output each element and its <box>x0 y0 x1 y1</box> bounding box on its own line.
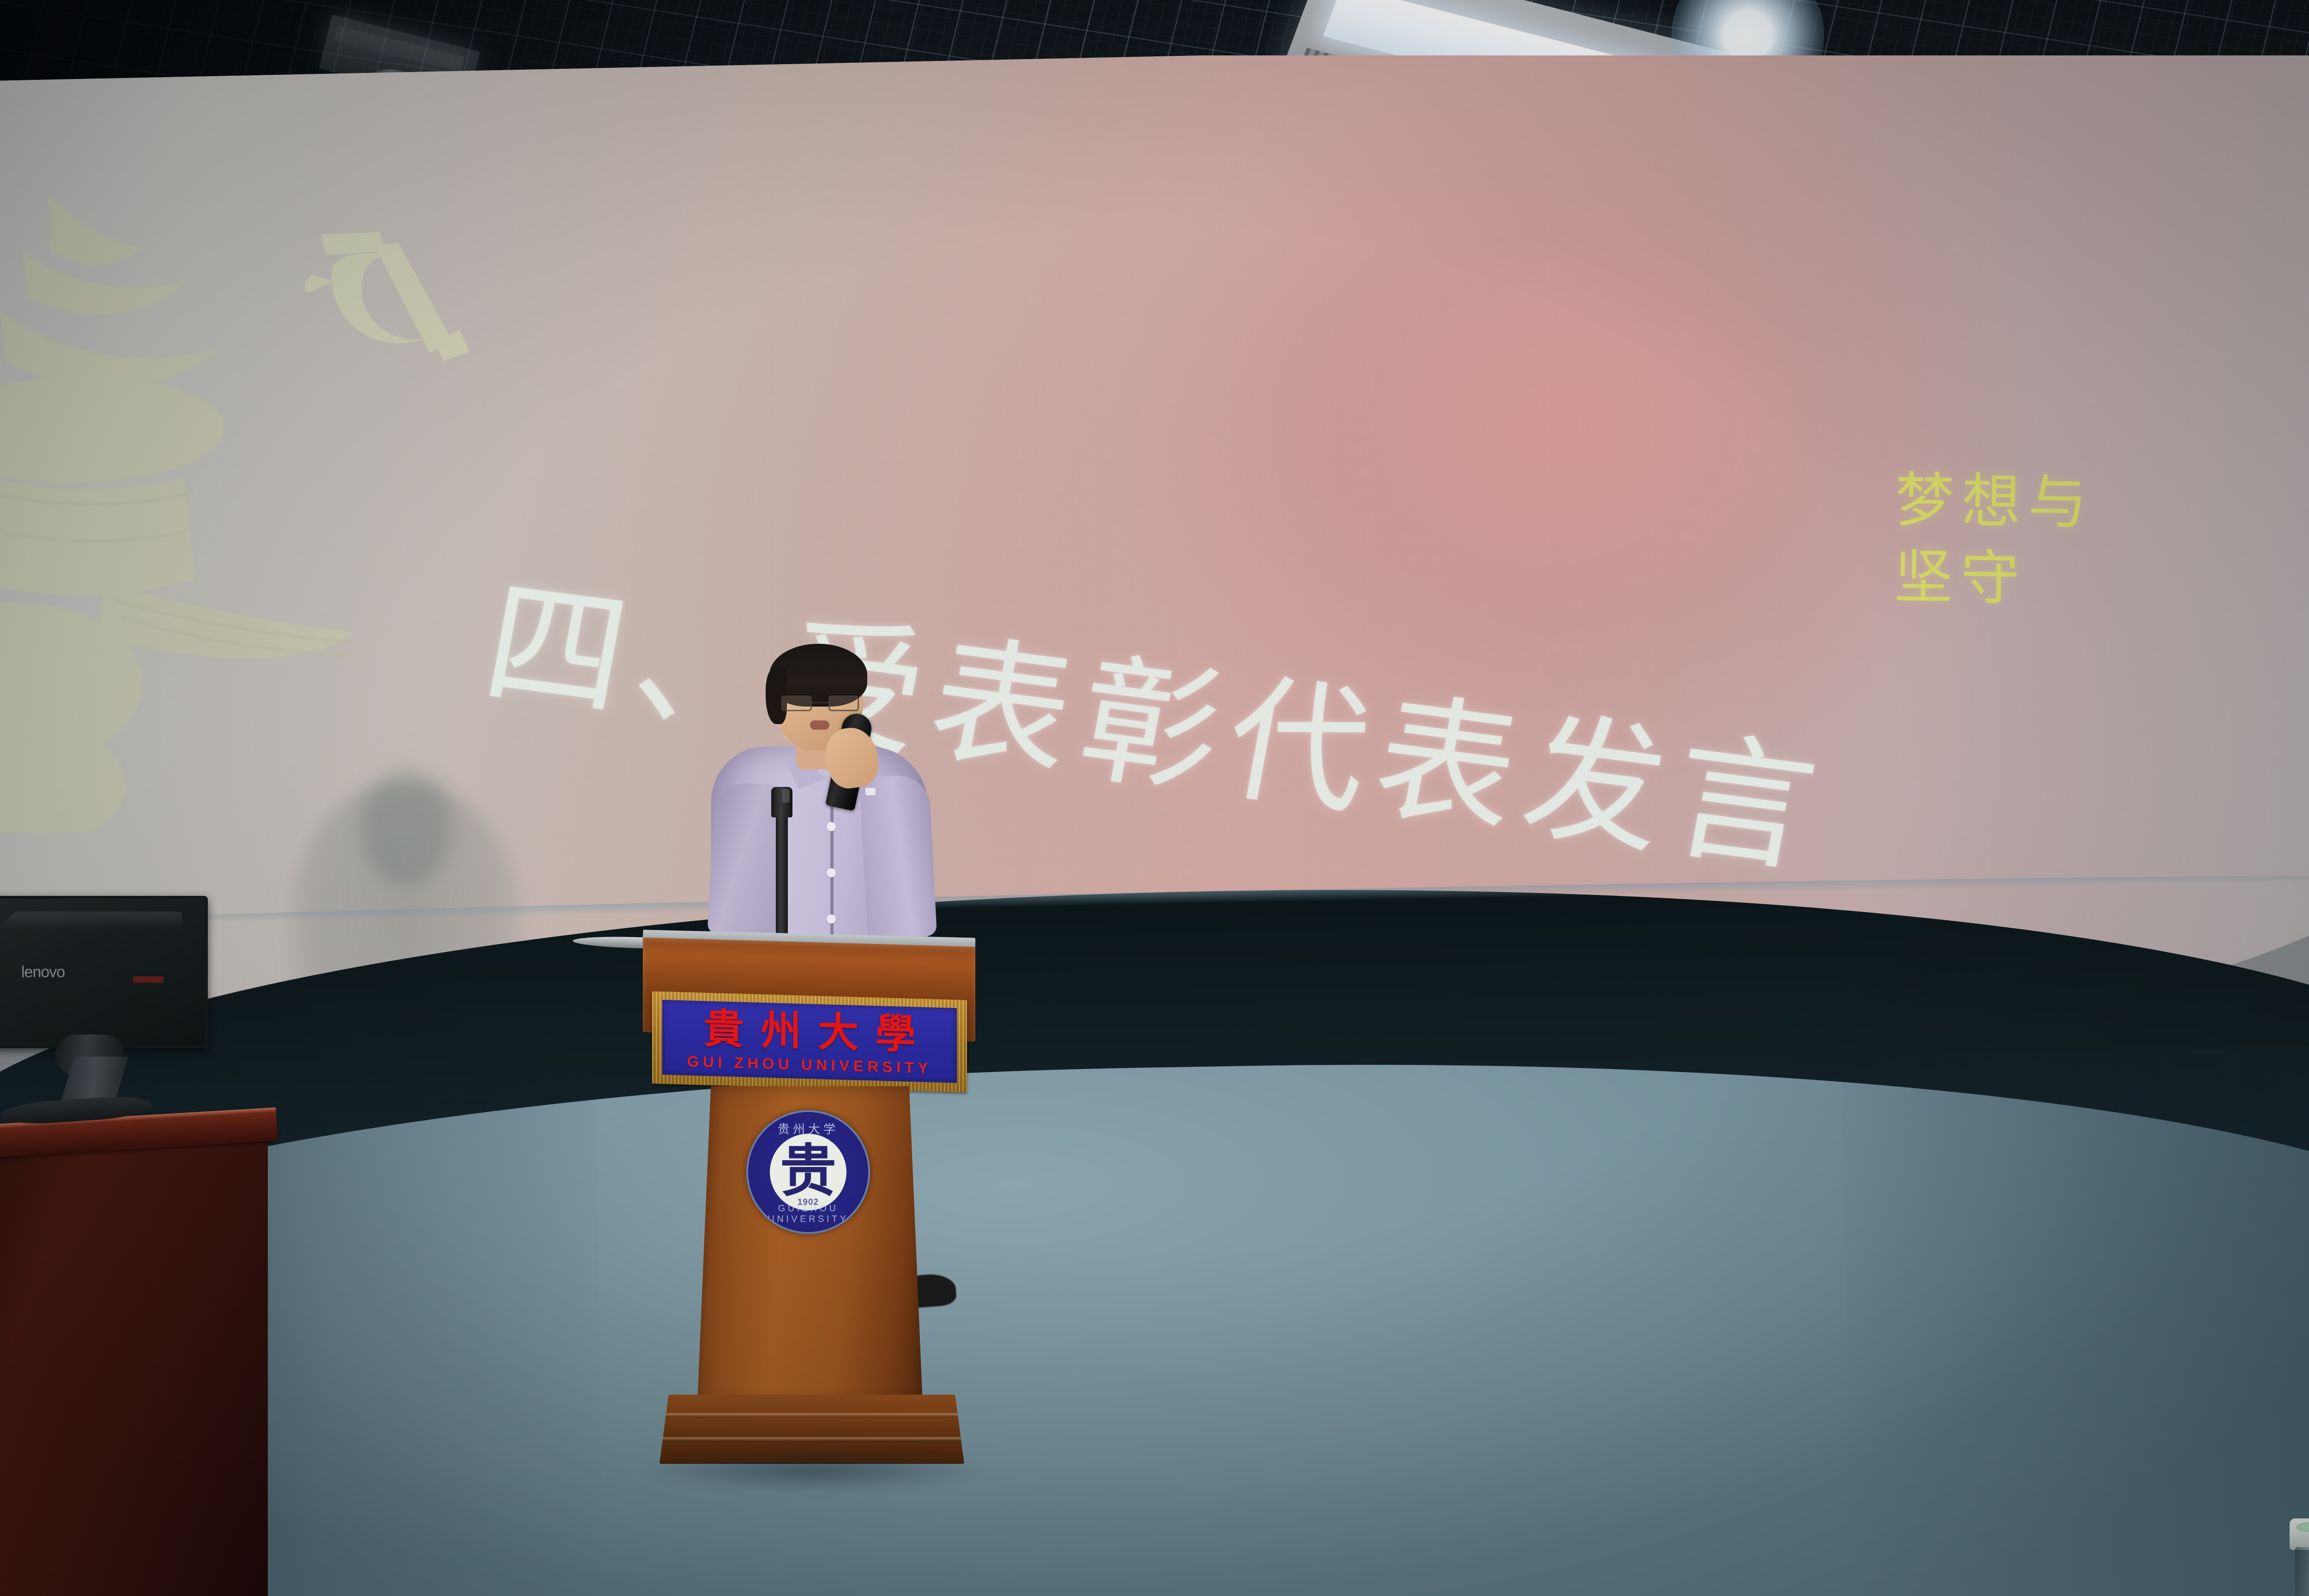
monitor-brand-label: lenovo <box>21 963 65 981</box>
microphone-stand <box>776 814 788 943</box>
university-nameplate: 貴州大學 GUI ZHOU UNIVERSITY <box>662 1000 957 1083</box>
shirt-button <box>827 822 836 831</box>
stage-floor <box>0 1044 2309 1596</box>
lapel-pin <box>865 788 876 795</box>
slide-subtitle-line1: 梦想与 <box>1894 462 2095 542</box>
lens-right <box>828 695 859 711</box>
water-bottle[interactable] <box>2286 1518 2309 1596</box>
emblem-arc-bottom: GUIZHOU UNIVERSITY <box>748 1203 868 1225</box>
cpc-hammer-sickle-icon <box>280 223 496 380</box>
eyeglasses-icon <box>780 695 860 712</box>
speaker-arm-right <box>859 774 937 939</box>
slide-subtitle-line2: 坚守 <box>1893 539 2094 619</box>
shirt-button <box>827 868 836 877</box>
auditorium-photo: 四、受表彰代表发言 梦想与 坚守 <box>0 0 2309 1596</box>
plaque-frame: 貴州大學 GUI ZHOU UNIVERSITY <box>652 991 967 1092</box>
microphone-clip <box>771 787 792 817</box>
floor-shadow-right <box>1842 1044 2309 1596</box>
lens-left <box>781 695 812 711</box>
speaker <box>711 637 942 961</box>
lectern-shadow <box>647 1450 979 1492</box>
monitor-rear-panel: lenovo <box>0 896 208 1048</box>
control-desk <box>0 1127 268 1596</box>
glasses-bridge <box>812 702 828 703</box>
base-ridge <box>659 1413 964 1418</box>
shirt-button <box>827 914 836 924</box>
bottle-neck <box>2295 1547 2309 1596</box>
computer-monitor[interactable]: lenovo <box>0 896 217 1081</box>
speaker-mouth <box>810 720 829 730</box>
slide-subtitle: 梦想与 坚守 <box>1893 462 2095 619</box>
monitor-bevel <box>0 912 182 929</box>
monitor-badge <box>133 976 163 983</box>
nameplate-chinese: 貴州大學 <box>687 1007 932 1055</box>
base-ridge <box>659 1437 964 1442</box>
emblem-glyph: 贵 <box>780 1143 836 1199</box>
emblem-center: 贵 1902 <box>770 1134 846 1210</box>
slide-title: 四、受表彰代表发言 <box>475 573 1836 883</box>
bottle-cap <box>2290 1518 2309 1550</box>
lectern: 貴州大學 GUI ZHOU UNIVERSITY 贵州大学 贵 1902 GUI… <box>637 942 988 1487</box>
university-emblem: 贵州大学 贵 1902 GUIZHOU UNIVERSITY <box>746 1110 870 1234</box>
